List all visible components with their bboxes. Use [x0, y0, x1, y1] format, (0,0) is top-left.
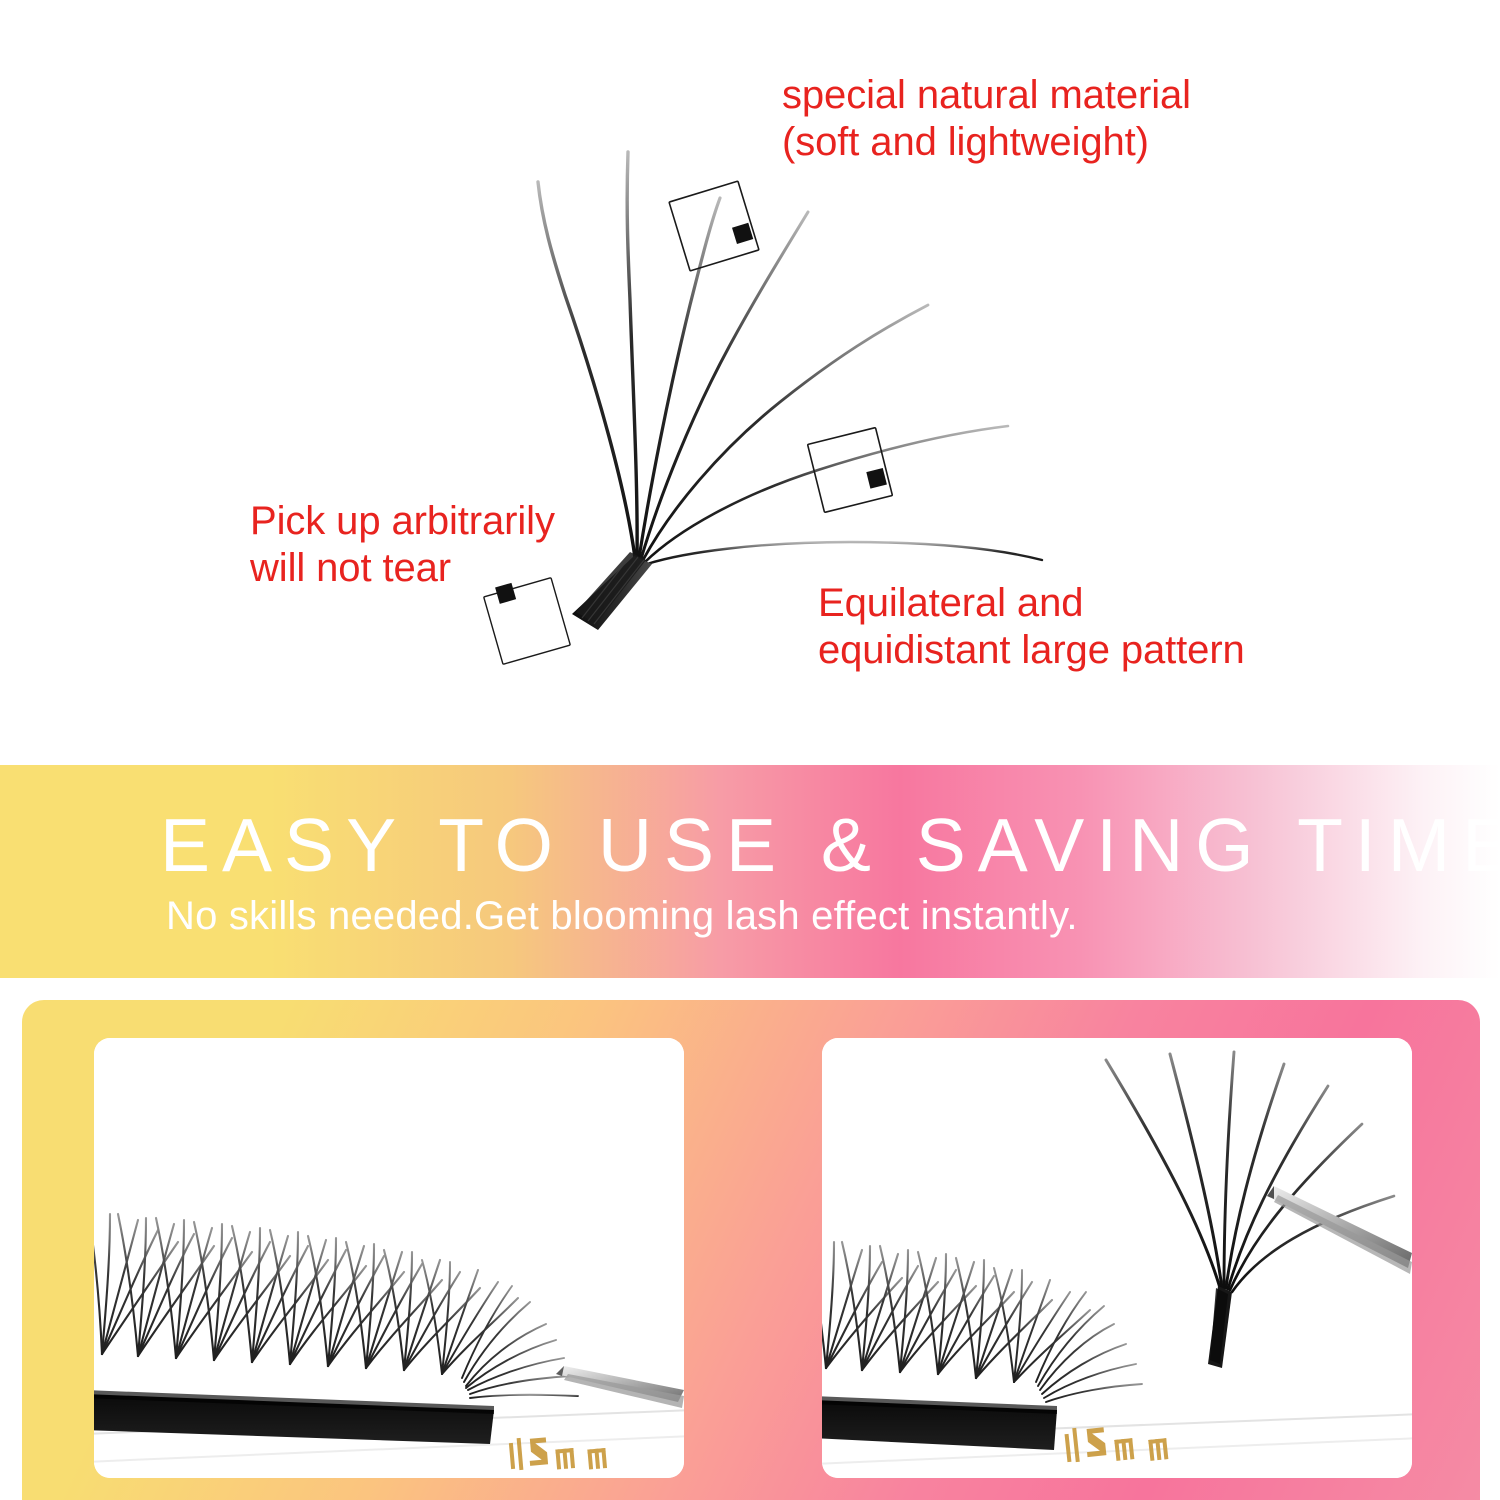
photo-card-lash-tray[interactable]	[94, 1038, 684, 1478]
banner-subheadline: No skills needed.Get blooming lash effec…	[166, 893, 1078, 939]
product-photos-section	[0, 978, 1500, 1500]
callout-marker-icon-1	[669, 181, 759, 271]
callout-equilateral-equidistant: Equilateral and equidistant large patter…	[818, 580, 1338, 674]
banner-headline: EASY TO USE & SAVING TIME	[160, 806, 1410, 884]
hero-section: special natural material (soft and light…	[0, 0, 1500, 765]
callout-special-natural-material: special natural material (soft and light…	[782, 72, 1302, 166]
callout-pick-up-arbitrarily: Pick up arbitrarily will not tear	[250, 498, 650, 592]
photo-card-lash-fan-lift[interactable]	[822, 1038, 1412, 1478]
gradient-photo-frame	[22, 1000, 1480, 1500]
